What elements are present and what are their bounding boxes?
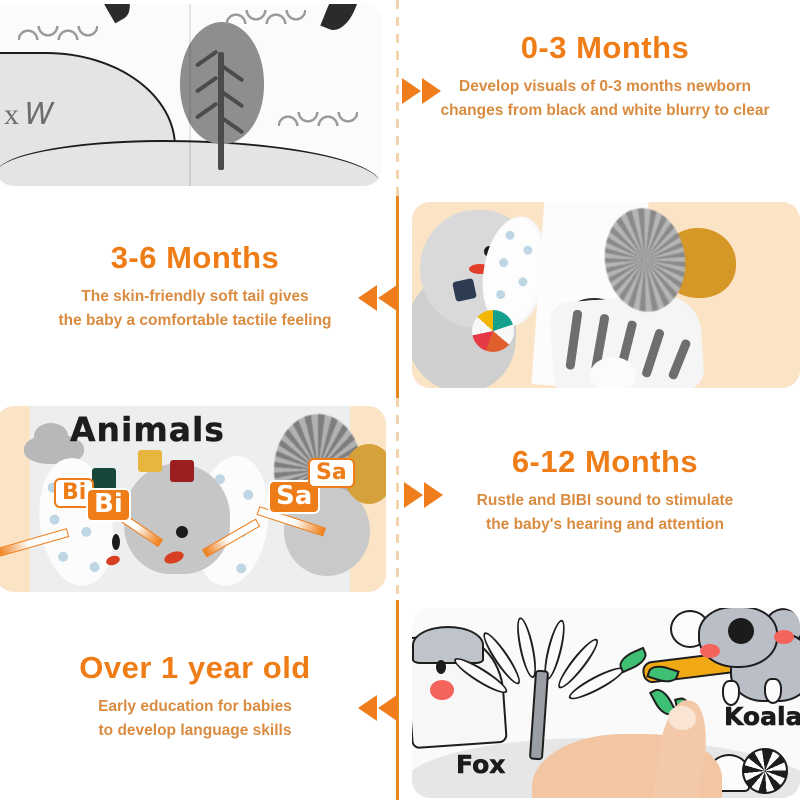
stage-description-line: changes from black and white blurry to c… xyxy=(420,99,790,123)
stage-description-line: Early education for babies xyxy=(10,695,380,719)
bw-ground-shape xyxy=(0,140,382,186)
animals-heading-text: Animals xyxy=(70,410,225,449)
book-seam xyxy=(189,4,191,186)
wave-line-decoration xyxy=(278,112,358,126)
connector-line-row3 xyxy=(396,398,399,600)
triangle-right-icon xyxy=(404,482,423,508)
triangle-left-icon xyxy=(378,695,397,721)
triangle-right-icon xyxy=(424,482,443,508)
snail-shell xyxy=(742,748,788,794)
stage-text-over-1-year: Over 1 year old Early education for babi… xyxy=(10,650,380,743)
stage-text-0-3-months: 0-3 Months Develop visuals of 0-3 months… xyxy=(420,30,790,123)
crinkle-tab-yellow xyxy=(138,450,162,472)
stage-description-line: the baby a comfortable tactile feeling xyxy=(10,309,380,333)
arrow-marker-row3 xyxy=(404,482,444,508)
koala-paw xyxy=(764,678,782,704)
triangle-left-icon xyxy=(378,285,397,311)
arrow-marker-row1 xyxy=(402,78,442,104)
stage-description-line: the baby's hearing and attention xyxy=(420,513,790,537)
fox-illustration-head xyxy=(412,626,484,664)
stage-title: Over 1 year old xyxy=(10,650,380,686)
koala-soft-tail-toy-photo xyxy=(412,202,800,388)
stage-description: Early education for babies to develop la… xyxy=(10,695,380,743)
stage-text-6-12-months: 6-12 Months Rustle and BIBI sound to sti… xyxy=(420,444,790,537)
stage-title: 0-3 Months xyxy=(420,30,790,66)
crinkle-tab-green xyxy=(92,468,116,490)
fox-koala-language-page-photo: Fox Koala xyxy=(412,608,800,798)
crinkle-tab-red xyxy=(170,460,194,482)
toy-photo-content xyxy=(412,202,800,388)
stage-description: Rustle and BIBI sound to stimulate the b… xyxy=(420,489,790,537)
arrow-marker-row2 xyxy=(357,285,397,311)
leaf-decoration xyxy=(92,4,138,23)
callout-bi-2: Bi xyxy=(86,488,131,522)
triangle-left-icon xyxy=(358,285,377,311)
fox-eye xyxy=(436,660,446,674)
connector-line-row1 xyxy=(396,0,399,196)
koala-cheek xyxy=(774,630,794,644)
wave-line-decoration xyxy=(226,10,306,24)
stage-text-3-6-months: 3-6 Months The skin-friendly soft tail g… xyxy=(10,240,380,333)
toy-foot xyxy=(590,357,636,388)
label-fox: Fox xyxy=(456,750,505,779)
stage-description-line: Rustle and BIBI sound to stimulate xyxy=(420,489,790,513)
book-page-content: Fox Koala xyxy=(412,608,800,798)
koala-cheek xyxy=(700,644,720,658)
stage-description-line: to develop language skills xyxy=(10,719,380,743)
elephant-eye xyxy=(112,534,120,550)
triangle-left-icon xyxy=(358,695,377,721)
stage-title: 6-12 Months xyxy=(420,444,790,480)
elephant-eye xyxy=(176,526,188,538)
stage-title: 3-6 Months xyxy=(10,240,380,276)
beach-ball-graphic xyxy=(472,310,514,352)
infographic-root: x 𝑊 0-3 Months Develop visuals of 0-3 mo… xyxy=(0,0,800,800)
wave-line-decoration xyxy=(18,26,98,40)
stage-description-line: Develop visuals of 0-3 months newborn xyxy=(420,75,790,99)
animals-page-rustle-sound-photo: Animals xyxy=(0,406,386,592)
animals-photo-content: Animals xyxy=(0,406,386,592)
bw-illustration: x 𝑊 xyxy=(0,4,382,186)
koala-nose xyxy=(728,618,754,644)
label-koala: Koala xyxy=(724,702,800,731)
stage-description: The skin-friendly soft tail gives the ba… xyxy=(10,285,380,333)
leaf-decoration xyxy=(320,4,361,35)
black-and-white-book-page-photo: x 𝑊 xyxy=(0,4,382,186)
triangle-right-icon xyxy=(422,78,441,104)
fox-cheek xyxy=(430,680,454,700)
callout-sa-2: Sa xyxy=(308,458,355,488)
stage-description: Develop visuals of 0-3 months newborn ch… xyxy=(420,75,790,123)
scribble-decoration: x 𝑊 xyxy=(4,98,55,132)
stage-description-line: The skin-friendly soft tail gives xyxy=(10,285,380,309)
triangle-right-icon xyxy=(402,78,421,104)
arrow-marker-row4 xyxy=(357,695,397,721)
fabric-tag xyxy=(452,278,477,302)
